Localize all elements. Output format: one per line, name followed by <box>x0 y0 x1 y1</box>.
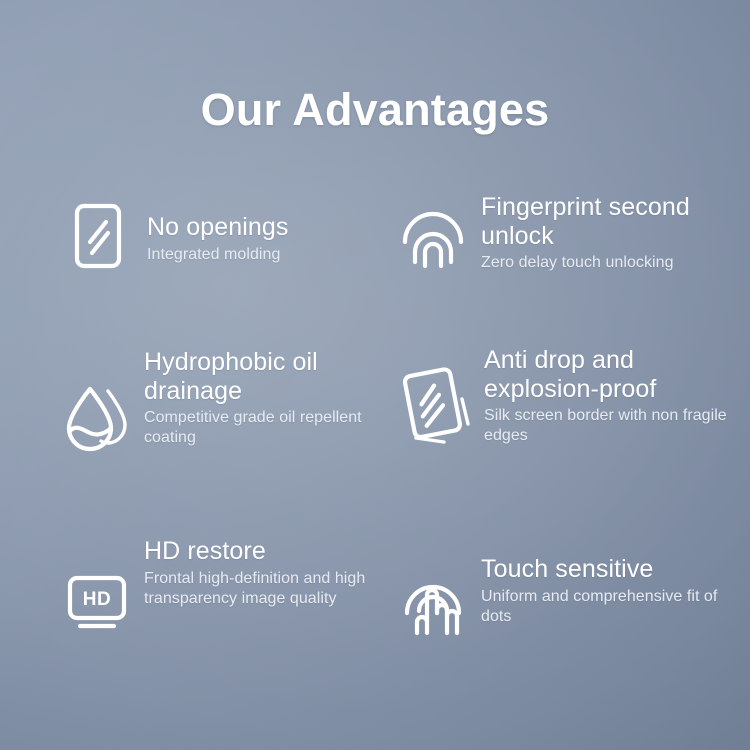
hd-monitor-icon-label: HD <box>83 589 111 610</box>
feature-text-block: Fingerprint second unlock Zero delay tou… <box>466 186 750 273</box>
feature-text-block: No openings Integrated molding <box>128 199 390 265</box>
feature-subtitle: Zero delay touch unlocking <box>481 253 750 273</box>
page-title: Our Advantages <box>0 87 750 132</box>
water-drops-icon <box>62 348 134 455</box>
phone-screen-icon <box>68 199 128 269</box>
feature-title: Fingerprint second unlock <box>481 193 750 250</box>
feature-item-hd-restore[interactable]: HD HD restore Frontal high-definition an… <box>0 531 390 681</box>
feature-subtitle: Uniform and comprehensive fit of dots <box>481 587 750 628</box>
feature-title: Touch sensitive <box>481 555 750 584</box>
feature-subtitle: Integrated molding <box>147 245 390 265</box>
feature-text-block: HD restore Frontal high-definition and h… <box>132 537 390 609</box>
feature-item-anti-drop-explosion-proof[interactable]: Anti drop and explosion-proof Silk scree… <box>390 346 750 531</box>
features-row-3: HD HD restore Frontal high-definition an… <box>0 531 750 681</box>
feature-subtitle: Silk screen border with non fragile edge… <box>484 406 750 447</box>
hd-monitor-icon: HD <box>62 537 132 631</box>
feature-text-block: Anti drop and explosion-proof Silk scree… <box>480 346 750 447</box>
touch-hand-icon <box>398 549 468 637</box>
feature-subtitle: Frontal high-definition and high transpa… <box>144 569 390 610</box>
feature-title: No openings <box>147 213 390 242</box>
feature-subtitle: Competitive grade oil repellent coating <box>144 408 390 449</box>
feature-text-block: Hydrophobic oil drainage Competitive gra… <box>134 348 390 449</box>
feature-title: Anti drop and explosion-proof <box>484 346 750 403</box>
feature-title: Hydrophobic oil drainage <box>144 348 390 405</box>
features-row-1: No openings Integrated molding Fing <box>0 186 750 346</box>
feature-item-no-openings[interactable]: No openings Integrated molding <box>0 186 390 346</box>
feature-title: HD restore <box>144 537 390 566</box>
features-grid: No openings Integrated molding Fing <box>0 186 750 681</box>
feature-item-touch-sensitive[interactable]: Touch sensitive Uniform and comprehensiv… <box>390 531 750 681</box>
advantages-page: Our Advantages No openings Integrated mo… <box>0 0 750 750</box>
feature-item-hydrophobic-oil-drainage[interactable]: Hydrophobic oil drainage Competitive gra… <box>0 346 390 531</box>
features-row-2: Hydrophobic oil drainage Competitive gra… <box>0 346 750 531</box>
fingerprint-icon <box>400 186 466 270</box>
tilted-screen-motion-icon <box>390 346 480 446</box>
feature-item-fingerprint-second-unlock[interactable]: Fingerprint second unlock Zero delay tou… <box>390 186 750 346</box>
feature-text-block: Touch sensitive Uniform and comprehensiv… <box>468 549 750 627</box>
